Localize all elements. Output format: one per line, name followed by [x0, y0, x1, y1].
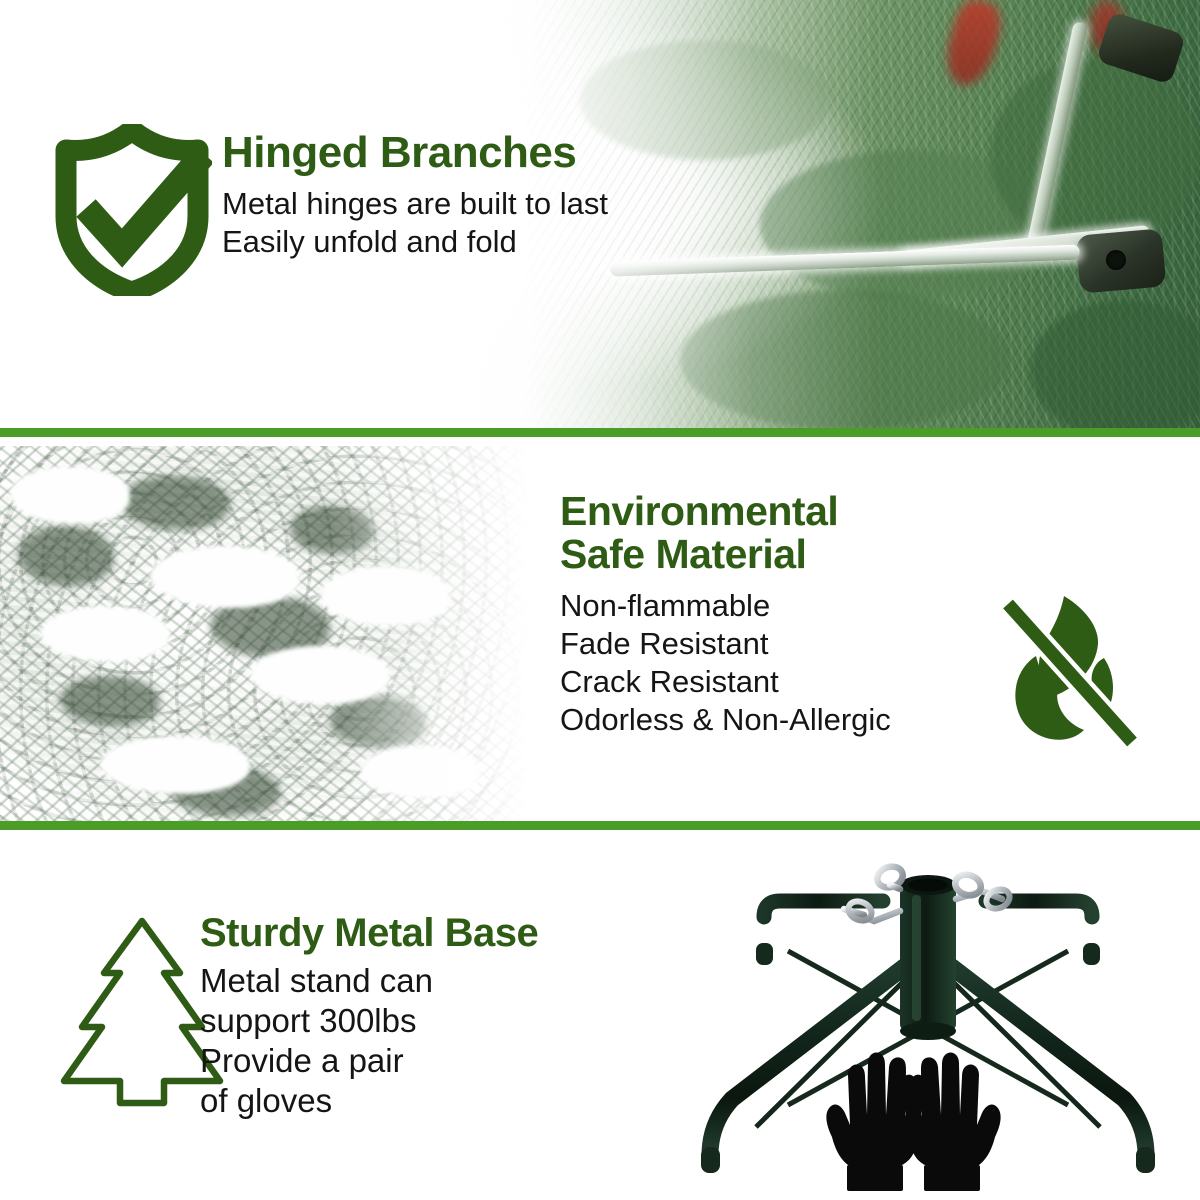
feature-section-sturdy-metal-base: Sturdy Metal Base Metal stand can suppor…: [0, 839, 1200, 1200]
flocked-tree-photo: [0, 446, 530, 830]
hinged-branches-text-block: Hinged Branches Metal hinges are built t…: [222, 130, 782, 260]
photo-white-fade: [330, 446, 560, 830]
section-divider: [0, 821, 1200, 830]
section-heading: Hinged Branches: [222, 130, 782, 176]
section-heading: Sturdy Metal Base: [200, 913, 670, 955]
snow-flock-tip: [150, 546, 300, 608]
no-flame-icon: [992, 592, 1144, 752]
shield-check-icon: [52, 124, 212, 296]
section-body: Metal stand can support 300lbs Provide a…: [200, 961, 670, 1122]
section-body: Metal hinges are built to last Easily un…: [222, 185, 782, 261]
section-divider: [0, 428, 1200, 437]
work-gloves-photo: [806, 1041, 1021, 1193]
section-body: Non-flammable Fade Resistant Crack Resis…: [560, 587, 1030, 738]
snow-flock-tip: [40, 606, 170, 662]
section-heading: Environmental Safe Material: [560, 490, 1030, 575]
sturdy-base-text-block: Sturdy Metal Base Metal stand can suppor…: [200, 913, 670, 1122]
infographic-page: Hinged Branches Metal hinges are built t…: [0, 0, 1200, 1200]
feature-section-hinged-branches: Hinged Branches Metal hinges are built t…: [0, 0, 1200, 437]
snow-flock-tip: [10, 466, 130, 524]
snow-flock-tip: [100, 736, 250, 794]
environmental-text-block: Environmental Safe Material Non-flammabl…: [560, 490, 1030, 739]
